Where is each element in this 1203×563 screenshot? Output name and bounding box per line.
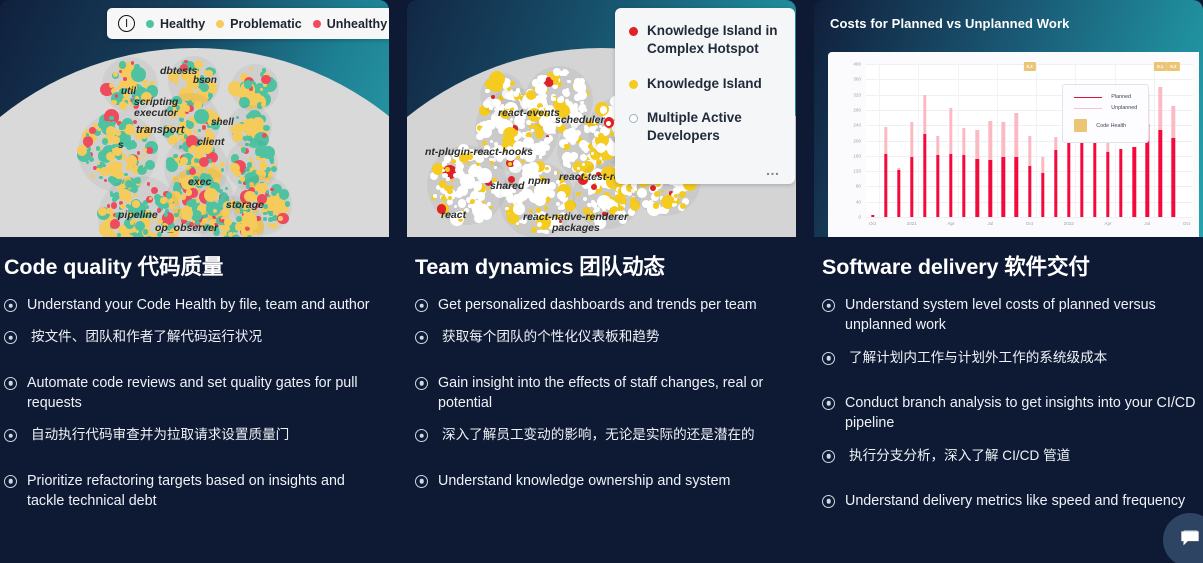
x-axis-tick-label: Apr <box>1104 221 1111 226</box>
bubble-node[interactable] <box>225 187 228 190</box>
bubble-label: executor <box>134 107 178 119</box>
bubble-label: react-events <box>498 107 560 119</box>
bubble-node[interactable] <box>507 192 513 198</box>
bubble-node[interactable] <box>600 106 607 113</box>
bubble-node[interactable] <box>510 81 515 86</box>
bubble-node[interactable] <box>271 166 277 172</box>
bubble-node[interactable] <box>221 168 224 171</box>
bubble-node[interactable] <box>518 123 524 129</box>
bubble-node[interactable] <box>246 114 251 119</box>
target-icon <box>4 331 17 344</box>
bubble-node[interactable] <box>446 177 449 180</box>
bubble-label: shared <box>490 180 524 192</box>
bar-segment-unplanned <box>989 121 992 159</box>
bubble-node[interactable] <box>181 194 186 199</box>
bubble-node[interactable] <box>77 145 88 156</box>
bar-segment-planned <box>1041 173 1044 217</box>
bubble-node[interactable] <box>110 193 114 197</box>
bubble-node[interactable] <box>537 75 546 84</box>
x-axis-tick-label: Jul <box>987 221 993 226</box>
bubble-node[interactable] <box>143 148 147 152</box>
bar-segment-planned <box>871 215 874 217</box>
bar-segment-planned <box>897 170 900 217</box>
bubble-node[interactable] <box>241 147 246 152</box>
feature-item: Gain insight into the effects of staff c… <box>415 373 792 414</box>
target-icon <box>415 429 428 442</box>
bubble-node[interactable] <box>476 133 484 141</box>
chart-bar[interactable] <box>884 127 887 217</box>
bubble-label: exec <box>188 176 211 188</box>
chart-bar[interactable] <box>897 168 900 217</box>
bubble-node[interactable] <box>134 165 139 170</box>
bubble-node[interactable] <box>220 162 224 166</box>
chart-bar[interactable] <box>1015 113 1018 217</box>
bubble-node[interactable] <box>468 204 472 208</box>
bar-segment-planned <box>1106 152 1109 217</box>
bubble-node[interactable] <box>99 176 103 180</box>
legend-item-hotspot[interactable]: Knowledge Island in Complex Hotspot <box>629 22 781 58</box>
hotspot-color-dot <box>629 27 638 36</box>
chart-bar[interactable] <box>1119 149 1122 217</box>
card-2-body: Team dynamics 团队动态 Get personalized dash… <box>407 237 796 491</box>
bubble-node[interactable] <box>584 149 588 153</box>
bubble-node[interactable] <box>261 75 271 85</box>
chart-bar[interactable] <box>923 95 926 217</box>
bubble-label: s <box>118 140 124 151</box>
bubble-node[interactable] <box>508 162 512 166</box>
legend-item-healthy[interactable]: Healthy <box>146 17 205 31</box>
bubble-label: npm <box>528 175 550 187</box>
feature-item: Conduct branch analysis to get insights … <box>822 393 1199 434</box>
bubble-node[interactable] <box>169 203 175 209</box>
bubble-node[interactable] <box>567 80 570 83</box>
bar-segment-planned <box>936 155 939 217</box>
bubble-node[interactable] <box>477 203 483 209</box>
feature-text-en: Understand knowledge ownership and syste… <box>438 471 730 491</box>
y-axis-tick-label: 200 <box>853 138 861 143</box>
legend-label-multiple-devs: Multiple Active Developers <box>647 109 781 145</box>
feature-item-translated: 了解计划内工作与计划外工作的系统级成本 <box>822 348 1199 367</box>
bubble-node[interactable] <box>162 236 168 237</box>
target-icon <box>4 429 17 442</box>
bubble-node[interactable] <box>680 203 686 209</box>
chart-bar[interactable] <box>1093 139 1096 217</box>
bubble-node[interactable] <box>510 96 513 99</box>
x-axis-tick-label: Oct <box>869 221 876 226</box>
legend-item-knowledge-island[interactable]: Knowledge Island <box>629 75 781 93</box>
bubble-node[interactable] <box>119 101 127 109</box>
x-axis-tick-label: Jul <box>1144 221 1150 226</box>
bar-chart-plot-area[interactable]: 04080120160200240280320360400Oct2021AprJ… <box>866 64 1193 217</box>
bubble-label: pipeline <box>118 209 158 221</box>
y-axis-tick-label: 160 <box>853 153 861 158</box>
feature-item-translated: 自动执行代码审查并为拉取请求设置质量门 <box>4 425 385 444</box>
bar-segment-planned <box>1015 157 1018 217</box>
bar-segment-unplanned <box>923 95 926 134</box>
bar-segment-planned <box>910 157 913 217</box>
chart-bar[interactable] <box>1067 139 1070 217</box>
bubble-node[interactable] <box>279 189 289 199</box>
chart-bar[interactable] <box>1028 136 1031 217</box>
gridline <box>866 217 1193 218</box>
gridline-vertical <box>879 64 880 217</box>
bubble-node[interactable] <box>115 130 121 136</box>
bubble-node[interactable] <box>453 173 459 179</box>
bubble-node[interactable] <box>674 194 678 198</box>
bubble-node[interactable] <box>490 80 502 92</box>
bubble-node[interactable] <box>173 154 177 158</box>
code-health-badge[interactable]: 9.2 <box>1167 62 1179 71</box>
bar-segment-unplanned <box>910 122 913 156</box>
bubble-node[interactable] <box>527 166 534 173</box>
bubble-node[interactable] <box>160 197 167 204</box>
feature-text-zh: 执行分支分析，深入了解 CI/CD 管道 <box>845 446 1070 465</box>
legend-label-problematic: Problematic <box>230 17 302 31</box>
bar-segment-planned <box>962 155 965 217</box>
chart-bar[interactable] <box>1054 137 1057 217</box>
bubble-node[interactable] <box>276 199 283 206</box>
info-icon[interactable] <box>118 15 135 32</box>
bubble-node[interactable] <box>263 212 266 215</box>
bubble-node[interactable] <box>132 200 140 208</box>
bubble-node[interactable] <box>189 168 195 174</box>
bubble-node[interactable] <box>544 206 548 210</box>
healthy-color-dot <box>146 20 154 28</box>
bubble-node[interactable] <box>485 120 495 130</box>
bubble-node[interactable] <box>198 115 206 123</box>
bubble-node[interactable] <box>653 202 660 209</box>
bubble-node[interactable] <box>490 161 494 165</box>
bubble-node[interactable] <box>256 186 259 189</box>
bar-segment-planned <box>989 160 992 217</box>
bubble-node[interactable] <box>544 137 551 144</box>
bubble-node[interactable] <box>111 100 117 106</box>
bubble-node[interactable] <box>111 202 117 208</box>
team-dynamics-visualization[interactable]: react-eventsschedulernt-plugin-react-hoo… <box>407 0 796 237</box>
bubble-node[interactable] <box>263 125 270 132</box>
bubble-node[interactable] <box>211 162 215 166</box>
bubble-node[interactable] <box>459 164 464 169</box>
bubble-label: client <box>197 136 224 148</box>
bubble-node[interactable] <box>598 133 604 139</box>
bubble-node[interactable] <box>263 217 267 221</box>
chart-legend[interactable]: PlannedUnplannedCode Health <box>1062 84 1149 143</box>
bubble-node[interactable] <box>591 152 594 155</box>
gridline-vertical <box>1154 64 1155 217</box>
code-health-swatch <box>1074 119 1087 132</box>
bubble-node[interactable] <box>236 216 242 222</box>
y-axis-tick-label: 360 <box>853 77 861 82</box>
bubble-label: transport <box>136 124 184 136</box>
bubble-label: nt-plugin-react-hooks <box>425 146 533 158</box>
bubble-node[interactable] <box>146 147 152 153</box>
feature-text-zh: 深入了解员工变动的影响，无论是实际的还是潜在的 <box>438 425 755 444</box>
bar-segment-planned <box>1132 147 1135 217</box>
bubble-node[interactable] <box>134 171 138 175</box>
knowledge-island-color-dot <box>629 80 638 89</box>
legend-label-hotspot: Knowledge Island in Complex Hotspot <box>647 22 781 58</box>
bubble-node[interactable] <box>198 129 201 132</box>
bar-segment-planned <box>1002 157 1005 217</box>
bubble-node[interactable] <box>100 167 109 176</box>
x-axis-tick-label: 2022 <box>1064 221 1074 226</box>
target-icon <box>822 299 835 312</box>
bubble-label: react <box>441 209 466 221</box>
feature-item-translated: 执行分支分析，深入了解 CI/CD 管道 <box>822 446 1199 465</box>
bubble-node[interactable] <box>451 159 456 164</box>
y-axis-tick-label: 280 <box>853 107 861 112</box>
feature-item: Understand system level costs of planned… <box>822 295 1199 336</box>
target-icon <box>415 377 428 390</box>
bubble-node[interactable] <box>97 128 100 131</box>
chart-bar[interactable] <box>1106 139 1109 217</box>
bubble-node[interactable] <box>164 212 168 216</box>
legend-row-code-health[interactable]: Code Health <box>1074 119 1137 132</box>
bubble-node[interactable] <box>603 185 606 188</box>
bubble-node[interactable] <box>130 188 134 192</box>
card-2-title: Team dynamics 团队动态 <box>415 255 792 279</box>
problematic-color-dot <box>216 20 224 28</box>
x-axis-tick-label: 2021 <box>907 221 917 226</box>
bubble-node[interactable] <box>89 157 94 162</box>
card-code-quality: dbtestsbsonutilscriptingexecutorshelltra… <box>0 0 389 563</box>
bubble-node[interactable] <box>247 235 252 237</box>
y-axis-tick-label: 80 <box>856 184 861 189</box>
legend-overflow-menu-icon[interactable]: … <box>629 162 781 178</box>
card-1-title: Code quality 代码质量 <box>4 255 385 279</box>
bubble-node[interactable] <box>514 130 519 135</box>
bubble-node[interactable] <box>108 176 115 183</box>
bubble-node[interactable] <box>483 100 491 108</box>
chart-bar[interactable] <box>1172 106 1175 217</box>
bubble-node[interactable] <box>560 204 565 209</box>
bubble-node[interactable] <box>255 122 258 125</box>
legend-row-planned[interactable]: Planned <box>1074 94 1137 100</box>
bar-segment-unplanned <box>949 108 952 154</box>
x-axis-tick-label: Oct <box>1183 221 1190 226</box>
bubble-label: bson <box>193 75 217 86</box>
bubble-node[interactable] <box>582 163 586 167</box>
bubble-node[interactable] <box>565 99 569 103</box>
chart-bar[interactable] <box>989 121 992 217</box>
target-icon <box>415 331 428 344</box>
bubble-node[interactable] <box>266 179 269 182</box>
bubble-node[interactable] <box>124 173 127 176</box>
bubble-node[interactable] <box>169 198 173 202</box>
bubble-label: storage <box>226 199 264 211</box>
bar-segment-unplanned <box>884 127 887 154</box>
feature-text-zh: 了解计划内工作与计划外工作的系统级成本 <box>845 348 1107 367</box>
bubble-node[interactable] <box>556 202 560 206</box>
bubble-label: scheduler <box>555 114 605 126</box>
bubble-node[interactable] <box>267 223 271 227</box>
chart-panel[interactable]: 04080120160200240280320360400Oct2021AprJ… <box>828 52 1199 237</box>
bubble-node[interactable] <box>250 67 254 71</box>
bubble-node[interactable] <box>564 144 568 148</box>
bubble-node[interactable] <box>235 223 242 230</box>
bubble-node[interactable] <box>246 184 250 188</box>
bubble-node[interactable] <box>244 80 252 88</box>
bar-segment-unplanned <box>1028 136 1031 166</box>
gridline <box>866 79 1193 80</box>
bubble-node[interactable] <box>143 229 148 234</box>
bubble-node[interactable] <box>278 216 283 221</box>
feature-item-translated: 按文件、团队和作者了解代码运行状况 <box>4 327 385 346</box>
chart-bar[interactable] <box>1002 122 1005 217</box>
bubble-node[interactable] <box>564 153 567 156</box>
bubble-node[interactable] <box>186 189 192 195</box>
bubble-node[interactable] <box>266 190 269 193</box>
feature-text-en: Understand system level costs of planned… <box>845 295 1199 336</box>
bubble-label: op_observer <box>155 222 218 234</box>
bubble-node[interactable] <box>445 167 449 171</box>
bubble-node[interactable] <box>489 206 492 209</box>
bubble-node[interactable] <box>477 192 485 200</box>
chart-bar[interactable] <box>949 108 952 217</box>
bubble-node[interactable] <box>262 133 267 138</box>
code-quality-visualization[interactable]: dbtestsbsonutilscriptingexecutorshelltra… <box>0 0 389 237</box>
bubble-node[interactable] <box>557 97 563 103</box>
bubble-node[interactable] <box>485 89 490 94</box>
bubble-label: packages <box>552 222 600 234</box>
bubble-node[interactable] <box>457 186 467 196</box>
bubble-node[interactable] <box>544 230 548 234</box>
bubble-node[interactable] <box>661 190 664 193</box>
chart-bar[interactable] <box>975 130 978 217</box>
gridline-vertical <box>918 64 919 217</box>
feature-item: Get personalized dashboards and trends p… <box>415 295 792 315</box>
legend-item-unhealthy[interactable]: Unhealthy <box>313 17 387 31</box>
bar-segment-planned <box>923 134 926 217</box>
bubble-node[interactable] <box>505 93 509 97</box>
card-1-body: Code quality 代码质量 Understand your Code H… <box>0 237 389 511</box>
code-health-legend[interactable]: Healthy Problematic Unhealthy … <box>107 8 389 39</box>
feature-item: Understand delivery metrics like speed a… <box>822 491 1199 511</box>
bubble-node[interactable] <box>563 129 573 139</box>
x-axis-tick-label: Apr <box>947 221 954 226</box>
feature-text-en: Understand your Code Health by file, tea… <box>27 295 370 315</box>
code-health-badge[interactable]: 9.1 <box>1154 62 1166 71</box>
bubble-node[interactable] <box>168 161 171 164</box>
feature-text-en: Understand delivery metrics like speed a… <box>845 491 1185 511</box>
bar-segment-planned <box>884 154 887 217</box>
chart-bar[interactable] <box>871 215 874 217</box>
bubble-node[interactable] <box>580 154 587 161</box>
bubble-node[interactable] <box>522 132 526 136</box>
bar-segment-planned <box>1093 139 1096 217</box>
legend-row-unplanned[interactable]: Unplanned <box>1074 105 1137 111</box>
bubble-node[interactable] <box>194 101 201 108</box>
bar-segment-planned <box>1119 149 1122 217</box>
bubble-node[interactable] <box>122 190 125 193</box>
bubble-node[interactable] <box>571 157 575 161</box>
chat-bubble-icon <box>1177 527 1203 553</box>
bubble-node[interactable] <box>127 75 130 78</box>
bar-segment-planned <box>1028 166 1031 217</box>
bubble-node[interactable] <box>143 84 147 88</box>
legend-item-problematic[interactable]: Problematic <box>216 17 302 31</box>
bubble-node[interactable] <box>119 123 126 130</box>
bubble-node[interactable] <box>209 109 214 114</box>
bubble-node[interactable] <box>566 88 569 91</box>
bubble-node[interactable] <box>487 202 491 206</box>
bubble-node[interactable] <box>606 121 611 126</box>
bubble-node[interactable] <box>234 123 243 132</box>
bubble-node[interactable] <box>137 222 144 229</box>
chart-bar[interactable] <box>910 122 913 217</box>
bubble-node[interactable] <box>106 227 109 230</box>
gridline-vertical <box>1036 64 1037 217</box>
chart-bar[interactable] <box>1080 139 1083 217</box>
bubble-node[interactable] <box>103 220 106 223</box>
bubble-node[interactable] <box>574 94 580 100</box>
bubble-node[interactable] <box>285 201 290 206</box>
bubble-node[interactable] <box>89 127 96 134</box>
software-delivery-visualization[interactable]: Costs for Planned vs Unplanned Work 0408… <box>814 0 1203 237</box>
bubble-node[interactable] <box>485 169 488 172</box>
bubble-node[interactable] <box>514 136 519 141</box>
chart-bar[interactable] <box>1159 87 1162 217</box>
chat-widget-button[interactable] <box>1163 513 1203 563</box>
bubble-node[interactable] <box>255 93 261 99</box>
bubble-node[interactable] <box>458 199 467 208</box>
bubble-node[interactable] <box>249 157 252 160</box>
code-health-badge[interactable]: 8.3 <box>1023 62 1035 71</box>
bubble-node[interactable] <box>171 165 174 168</box>
bubble-label: dbtests <box>160 65 197 77</box>
bubble-node[interactable] <box>269 156 275 162</box>
chart-bar[interactable] <box>962 128 965 217</box>
chart-bar[interactable] <box>1132 147 1135 217</box>
chart-bar[interactable] <box>936 136 939 217</box>
feature-text-zh: 获取每个团队的个性化仪表板和趋势 <box>438 327 660 346</box>
legend-label-unhealthy: Unhealthy <box>327 17 387 31</box>
feature-text-zh: 自动执行代码审查并为拉取请求设置质量门 <box>27 425 289 444</box>
bubble-node[interactable] <box>262 68 267 73</box>
bubble-node[interactable] <box>256 156 260 160</box>
bubble-node[interactable] <box>174 217 177 220</box>
bubble-node[interactable] <box>145 160 155 170</box>
feature-item-translated: 获取每个团队的个性化仪表板和趋势 <box>415 327 792 346</box>
legend-label-unplanned: Unplanned <box>1111 105 1137 111</box>
bar-segment-unplanned <box>1172 106 1175 137</box>
bubble-node[interactable] <box>208 93 213 98</box>
bubble-node[interactable] <box>534 194 546 206</box>
y-axis-tick-label: 240 <box>853 123 861 128</box>
multiple-devs-color-dot <box>629 114 638 123</box>
knowledge-map-legend[interactable]: Knowledge Island in Complex Hotspot Know… <box>615 8 795 184</box>
bubble-node[interactable] <box>119 61 126 68</box>
chart-bar[interactable] <box>1041 157 1044 217</box>
feature-text-en: Automate code reviews and set quality ga… <box>27 373 385 414</box>
bubble-node[interactable] <box>579 104 585 110</box>
chart-title: Costs for Planned vs Unplanned Work <box>830 16 1069 31</box>
planned-line-swatch <box>1074 97 1102 98</box>
card-team-dynamics: react-eventsschedulernt-plugin-react-hoo… <box>407 0 796 563</box>
bubble-node[interactable] <box>604 152 608 156</box>
bubble-node[interactable] <box>448 201 451 204</box>
bubble-node[interactable] <box>541 88 546 93</box>
bubble-node[interactable] <box>112 197 117 202</box>
bubble-node[interactable] <box>86 133 90 137</box>
bubble-node[interactable] <box>516 88 520 92</box>
legend-item-multiple-devs[interactable]: Multiple Active Developers <box>629 109 781 145</box>
feature-text-zh: 按文件、团队和作者了解代码运行状况 <box>27 327 262 346</box>
bubble-node[interactable] <box>608 199 613 204</box>
feature-item: Understand knowledge ownership and syste… <box>415 471 792 491</box>
feature-item: Understand your Code Health by file, tea… <box>4 295 385 315</box>
bubble-node[interactable] <box>180 157 188 165</box>
